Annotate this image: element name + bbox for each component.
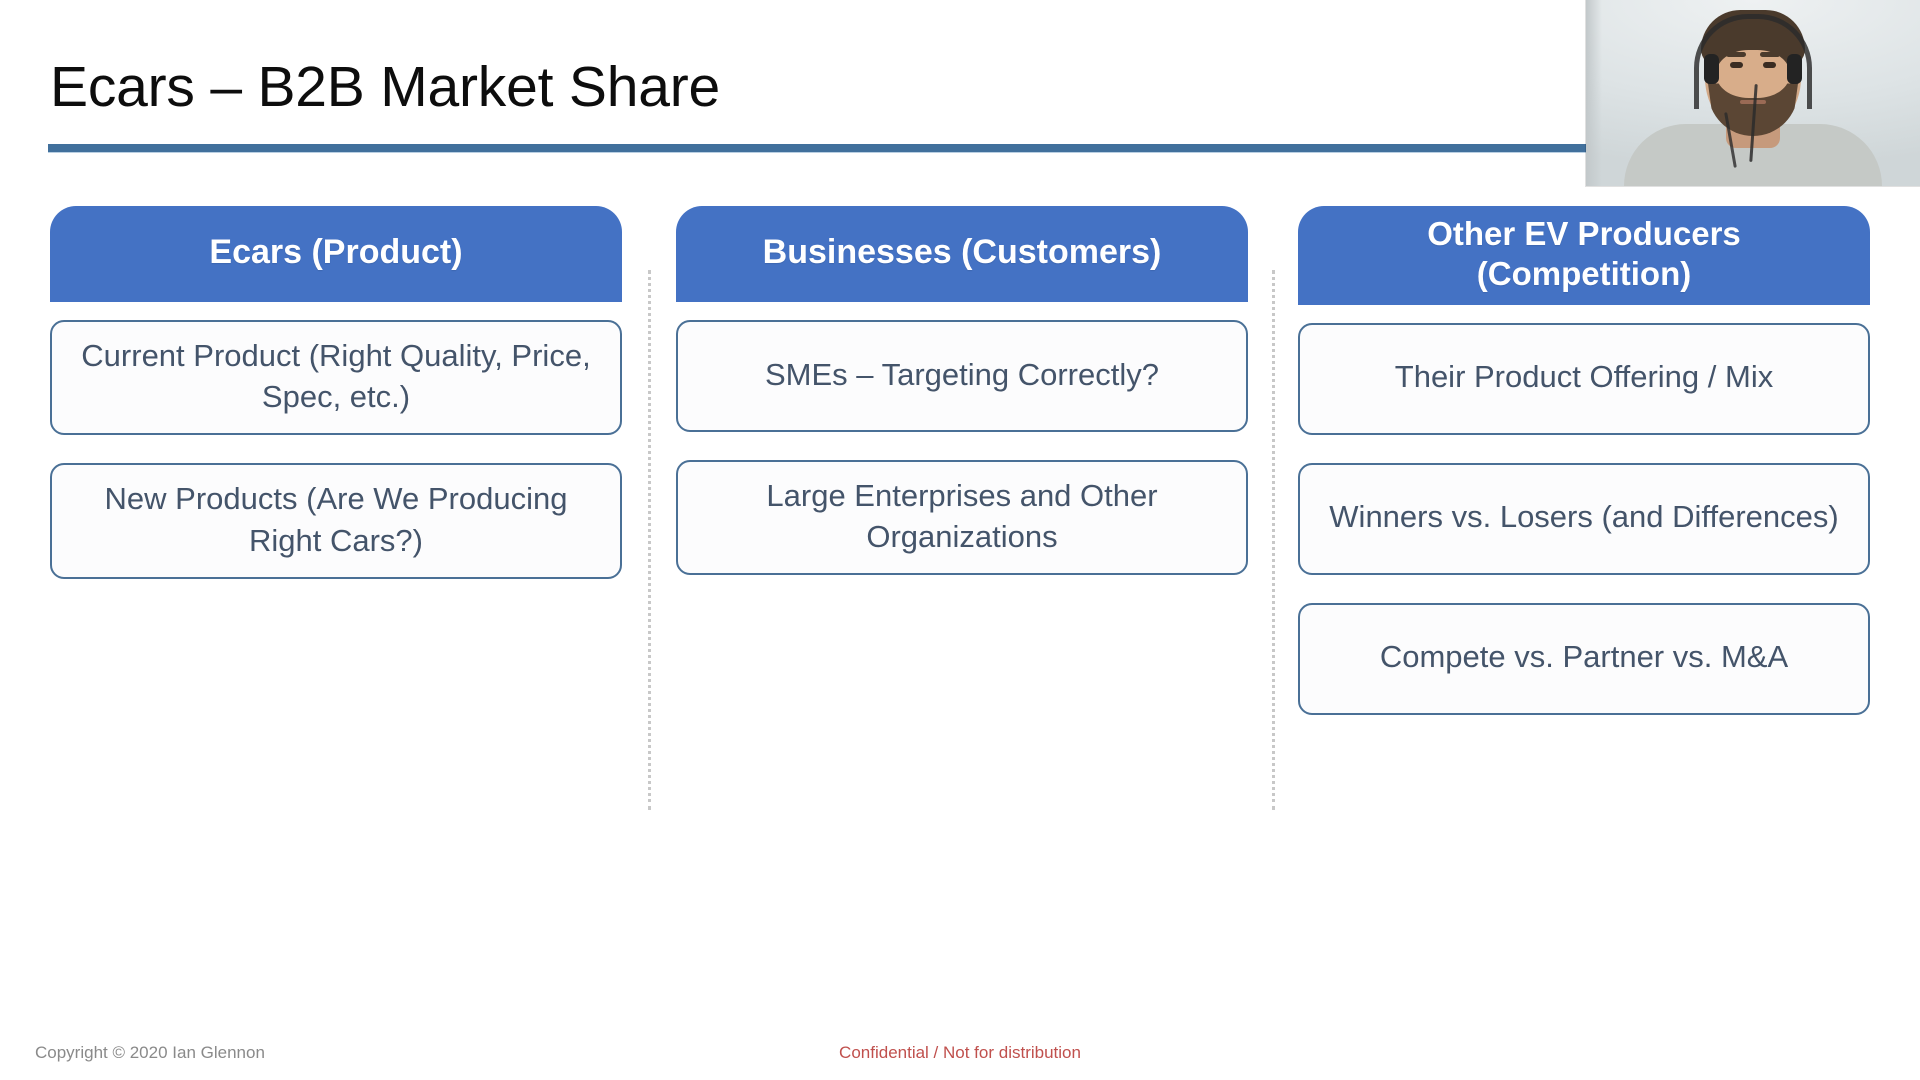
title-underline-rule: [48, 144, 1586, 152]
column-businesses-customers: Businesses (Customers) SMEs – Targeting …: [676, 206, 1248, 575]
column-body-businesses-customers: SMEs – Targeting Correctly? Large Enterp…: [676, 302, 1248, 575]
column-other-ev-producers: Other EV Producers (Competition) Their P…: [1298, 206, 1870, 715]
column-body-ecars-product: Current Product (Right Quality, Price, S…: [50, 302, 622, 579]
page-title: Ecars – B2B Market Share: [50, 56, 720, 120]
column-header-businesses-customers: Businesses (Customers): [676, 206, 1248, 302]
column-header-ecars-product: Ecars (Product): [50, 206, 622, 302]
presentation-slide: Ecars – B2B Market Share Ecars (Product)…: [0, 0, 1920, 1080]
list-item[interactable]: Winners vs. Losers (and Differences): [1298, 463, 1870, 575]
list-item[interactable]: Large Enterprises and Other Organization…: [676, 460, 1248, 575]
list-item[interactable]: Compete vs. Partner vs. M&A: [1298, 603, 1870, 715]
headset-earcup-left: [1704, 54, 1719, 84]
list-item[interactable]: SMEs – Targeting Correctly?: [676, 320, 1248, 432]
columns-container: Ecars (Product) Current Product (Right Q…: [0, 206, 1920, 996]
list-item[interactable]: New Products (Are We Producing Right Car…: [50, 463, 622, 578]
column-body-other-ev-producers: Their Product Offering / Mix Winners vs.…: [1298, 305, 1870, 715]
column-ecars-product: Ecars (Product) Current Product (Right Q…: [50, 206, 622, 579]
headset-earcup-right: [1787, 54, 1802, 84]
list-item[interactable]: Their Product Offering / Mix: [1298, 323, 1870, 435]
list-item[interactable]: Current Product (Right Quality, Price, S…: [50, 320, 622, 435]
presenter-video-overlay[interactable]: [1586, 0, 1920, 186]
column-header-other-ev-producers: Other EV Producers (Competition): [1298, 206, 1870, 305]
footer-confidential-notice: Confidential / Not for distribution: [0, 1043, 1920, 1063]
